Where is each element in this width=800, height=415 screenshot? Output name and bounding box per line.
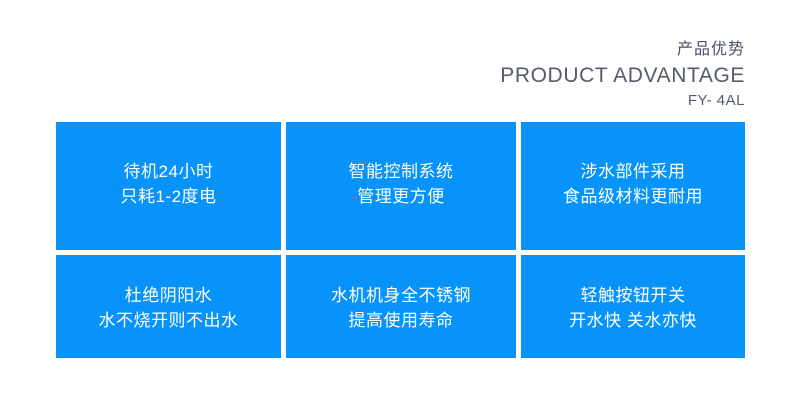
page-title-english: PRODUCT ADVANTAGE [185, 62, 745, 89]
advantage-card-1: 待机24小时 只耗1-2度电 [56, 122, 281, 250]
advantage-card-1-line2: 只耗1-2度电 [120, 184, 216, 209]
advantage-card-5-line2: 提高使用寿命 [349, 308, 454, 333]
advantage-card-6-line1: 轻触按钮开关 [581, 283, 686, 308]
advantage-card-6: 轻触按钮开关 开水快 关水亦快 [521, 255, 745, 358]
advantage-card-2-line1: 智能控制系统 [349, 159, 454, 184]
advantage-card-3-line1: 涉水部件采用 [581, 159, 686, 184]
header-block: 产品优势 PRODUCT ADVANTAGE FY- 4AL [185, 38, 745, 113]
advantage-card-3: 涉水部件采用 食品级材料更耐用 [521, 122, 745, 250]
advantage-card-5-line1: 水机机身全不锈钢 [331, 283, 471, 308]
advantage-card-1-line1: 待机24小时 [124, 159, 214, 184]
advantage-card-3-line2: 食品级材料更耐用 [563, 184, 703, 209]
product-advantage-page: 产品优势 PRODUCT ADVANTAGE FY- 4AL 待机24小时 只耗… [0, 0, 800, 415]
advantage-card-5: 水机机身全不锈钢 提高使用寿命 [286, 255, 516, 358]
product-model-number: FY- 4AL [185, 89, 745, 113]
advantage-card-2: 智能控制系统 管理更方便 [286, 122, 516, 250]
advantage-card-grid: 待机24小时 只耗1-2度电 智能控制系统 管理更方便 涉水部件采用 食品级材料… [56, 122, 745, 358]
advantage-card-6-line2: 开水快 关水亦快 [569, 308, 697, 333]
advantage-card-4: 杜绝阴阳水 水不烧开则不出水 [56, 255, 281, 358]
advantage-card-4-line2: 水不烧开则不出水 [99, 308, 239, 333]
advantage-card-4-line1: 杜绝阴阳水 [125, 283, 213, 308]
advantage-card-2-line2: 管理更方便 [357, 184, 445, 209]
page-title-chinese: 产品优势 [185, 38, 745, 62]
